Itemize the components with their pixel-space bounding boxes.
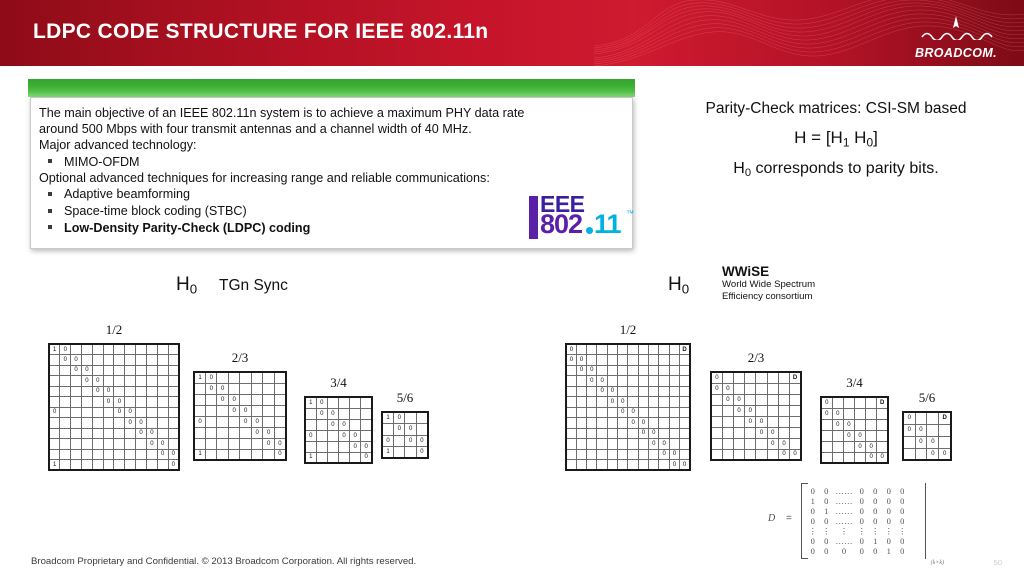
matrix-cell (274, 394, 286, 405)
matrix-cell (168, 439, 179, 450)
matrix-cell (350, 408, 361, 419)
matrix-cell (832, 430, 843, 441)
matrix-row: 00 (821, 441, 888, 452)
matrix-row: 10 (49, 344, 179, 355)
matrix-cell (778, 394, 789, 405)
matrix-cell: 0 (382, 435, 394, 447)
matrix-cell (659, 460, 669, 471)
matrix-cell (60, 460, 71, 471)
matrix-cell (628, 344, 638, 355)
matrix-cell (60, 386, 71, 397)
d-matrix-cell: …… (833, 536, 855, 546)
matrix-cell (638, 397, 648, 408)
matrix-cell (382, 424, 394, 436)
matrix-cell (597, 460, 607, 471)
matrix-cell (157, 365, 168, 376)
matrix-cell (832, 397, 843, 408)
matrix-cell: 0 (618, 407, 628, 418)
d-matrix-row: 00……0100 (806, 536, 909, 546)
matrix-cell: 0 (587, 365, 597, 376)
matrix-cell (756, 405, 767, 416)
matrix-cell (659, 397, 669, 408)
ieee-logo-tm: ™ (626, 210, 634, 218)
matrix-cell (618, 365, 628, 376)
matrix-cell: 0 (350, 441, 361, 452)
left-h0-letter: H (176, 274, 190, 295)
matrix-cell (711, 427, 722, 438)
d-matrix-grid: 00……000010……000001……000000……0000⋮⋮⋮⋮⋮⋮⋮0… (806, 486, 909, 556)
page-number: 50 (994, 558, 1002, 567)
matrix-cell (71, 386, 82, 397)
matrix-cell (217, 405, 228, 416)
matrix-cell: 0 (194, 416, 206, 427)
matrix-cell: 0 (638, 418, 648, 429)
matrix-cell (206, 394, 217, 405)
matrix-row: 00 (49, 355, 179, 366)
matrix-cell (638, 449, 648, 460)
matrix-row: 00 (49, 376, 179, 387)
matrix-cell (274, 372, 286, 383)
matrix-cell (778, 416, 789, 427)
matrix-cell (756, 438, 767, 449)
matrix-cell (866, 408, 877, 419)
matrix-cell (405, 412, 416, 424)
matrix-cell (778, 427, 789, 438)
matrix-cell (168, 386, 179, 397)
matrix-cell (49, 397, 60, 408)
matrix-cell: 1 (49, 344, 60, 355)
d-matrix-cell: 0 (882, 536, 896, 546)
matrix-cell (136, 397, 147, 408)
matrix-cell (92, 439, 103, 450)
matrix-cell (733, 427, 744, 438)
matrix-cell (82, 407, 93, 418)
matrix-row: 0D (821, 397, 888, 408)
matrix-cell (618, 418, 628, 429)
matrix-cell (638, 439, 648, 450)
matrix-row: 00 (49, 439, 179, 450)
d-matrix-row: 10……0000 (806, 496, 909, 506)
matrix-cell (338, 408, 349, 419)
matrix-cell: 0 (927, 436, 939, 448)
matrix-cell: 0 (566, 355, 576, 366)
matrix-cell (576, 344, 586, 355)
matrix-cell: 0 (327, 419, 338, 430)
d-matrix-cell: ⋮ (806, 526, 820, 536)
matrix-cell (680, 407, 690, 418)
matrix-cell (597, 344, 607, 355)
matrix-cell: 0 (778, 449, 789, 460)
d-matrix-cell: 0 (869, 516, 883, 526)
matrix-cell (361, 419, 372, 430)
matrix-cell: 0 (854, 441, 865, 452)
broadcom-wordmark: BROADCOM. (910, 46, 1002, 60)
matrix-cell (240, 372, 251, 383)
matrix-cell (628, 386, 638, 397)
matrix-cell (877, 419, 888, 430)
matrix-cell (649, 344, 659, 355)
overview-line-optional: Optional advanced techniques for increas… (39, 170, 622, 186)
matrix-row: 00 (305, 441, 372, 452)
matrix-cell: D (939, 412, 951, 424)
matrix-cell (92, 397, 103, 408)
matrix-cell (566, 428, 576, 439)
matrix-cell: D (790, 372, 801, 383)
matrix-cell (157, 397, 168, 408)
matrix-row: 00 (305, 419, 372, 430)
matrix-row: 000 (49, 407, 179, 418)
matrix-cell (767, 416, 778, 427)
d-matrix-cell: 0 (896, 486, 910, 496)
left-h0-sub: 0 (190, 282, 197, 297)
matrix-cell (607, 365, 617, 376)
matrix-cell (82, 439, 93, 450)
matrix-cell (659, 355, 669, 366)
matrix-cell (843, 452, 854, 463)
matrix-cell (251, 449, 262, 460)
matrix-cell (607, 449, 617, 460)
matrix-cell (607, 355, 617, 366)
matrix-cell: 0 (576, 365, 586, 376)
matrix-row: 00 (49, 418, 179, 429)
matrix-grid: 0D0000000000 (820, 396, 889, 464)
matrix-cell (125, 397, 136, 408)
matrix-cell (866, 419, 877, 430)
matrix-cell (274, 427, 286, 438)
matrix-cell (587, 439, 597, 450)
matrix-cell: 0 (745, 416, 756, 427)
matrix-cell (71, 344, 82, 355)
matrix-cell: 0 (659, 449, 669, 460)
matrix-cell (680, 386, 690, 397)
matrix-cell: 0 (206, 383, 217, 394)
matrix-cell (136, 407, 147, 418)
matrix-cell (722, 427, 733, 438)
d-matrix-cell: 1 (820, 506, 834, 516)
matrix-cell (649, 386, 659, 397)
ieee-logo-bar-icon (529, 196, 538, 239)
matrix-cell (71, 376, 82, 387)
matrix-cell (125, 386, 136, 397)
matrix-cell (146, 386, 157, 397)
matrix-cell (756, 372, 767, 383)
matrix-cell: 0 (767, 427, 778, 438)
matrix-cell (338, 397, 349, 408)
d-matrix-cell: 0 (855, 496, 869, 506)
d-matrix-cell: ⋮ (833, 526, 855, 536)
matrix-cell (305, 441, 316, 452)
matrix-cell: 0 (722, 394, 733, 405)
matrix-cell (228, 449, 239, 460)
matrix-cell (71, 428, 82, 439)
matrix-cell (136, 376, 147, 387)
parity-check-heading: Parity-Check matrices: CSI-SM based (648, 100, 1024, 118)
matrix-cell: 0 (416, 435, 428, 447)
matrix-cell: 0 (274, 438, 286, 449)
matrix-cell (778, 405, 789, 416)
d-matrix-cell: 1 (882, 546, 896, 556)
matrix-cell: 0 (618, 397, 628, 408)
d-matrix-cell: 0 (855, 486, 869, 496)
overview-line-3: Major advanced technology: (39, 137, 622, 153)
matrix-cell (168, 418, 179, 429)
d-matrix-cell: 0 (896, 516, 910, 526)
matrix-cell: 1 (305, 452, 316, 463)
matrix-cell (136, 365, 147, 376)
matrix-cell (274, 383, 286, 394)
d-matrix-cell: 0 (855, 506, 869, 516)
matrix-cell (638, 376, 648, 387)
matrix-grid: 0D0000000000000000000000 (565, 343, 691, 471)
matrix-cell: 0 (566, 344, 576, 355)
matrix-cell (350, 419, 361, 430)
matrix-cell (71, 407, 82, 418)
matrix-cell: 1 (194, 449, 206, 460)
matrix-row: 00 (49, 365, 179, 376)
matrix-cell (587, 460, 597, 471)
matrix-cell (843, 408, 854, 419)
matrix-cell (82, 355, 93, 366)
matrix-cell: 0 (263, 438, 274, 449)
overview-text-box: The main objective of an IEEE 802.11n sy… (30, 97, 633, 249)
matrix-cell (103, 376, 114, 387)
matrix-cell: 0 (927, 448, 939, 460)
matrix-cell (566, 460, 576, 471)
matrix-cell: 0 (394, 412, 405, 424)
matrix-cell (767, 405, 778, 416)
matrix-cell (680, 376, 690, 387)
matrix-cell (240, 438, 251, 449)
matrix-cell (327, 430, 338, 441)
matrix-cell (263, 416, 274, 427)
overview-line-2: around 500 Mbps with four transmit anten… (39, 121, 622, 137)
matrix-cell (587, 428, 597, 439)
matrix-cell: 0 (915, 436, 927, 448)
matrix-cell (136, 439, 147, 450)
matrix-cell (566, 376, 576, 387)
wwise-subtitle-1: World Wide Spectrum (722, 279, 815, 291)
matrix-cell (82, 386, 93, 397)
matrix-cell (711, 405, 722, 416)
matrix-cell (338, 441, 349, 452)
matrix-cell (157, 386, 168, 397)
matrix-cell (263, 405, 274, 416)
matrix-cell (649, 407, 659, 418)
matrix-cell (240, 427, 251, 438)
d-matrix-cell: ⋮ (855, 526, 869, 536)
bullet-square-icon (48, 225, 52, 229)
matrix-cell (659, 344, 669, 355)
matrix-cell (92, 365, 103, 376)
matrix-cell (927, 412, 939, 424)
matrix-cell (157, 407, 168, 418)
matrix-cell: 0 (939, 448, 951, 460)
matrix-cell: 0 (394, 424, 405, 436)
matrix-cell (206, 405, 217, 416)
matrix-row: 00 (194, 438, 286, 449)
matrix-cell (576, 449, 586, 460)
matrix-cell (618, 376, 628, 387)
matrix-cell: 0 (327, 408, 338, 419)
matrix-cell (618, 428, 628, 439)
matrix-cell (628, 428, 638, 439)
matrix-cell (597, 439, 607, 450)
matrix-cell (659, 428, 669, 439)
matrix-cell (136, 449, 147, 460)
matrix-tgn-3-4: 3/41000000000010 (304, 375, 373, 464)
matrix-cell (217, 427, 228, 438)
d-matrix-cell: ⋮ (882, 526, 896, 536)
matrix-cell (843, 397, 854, 408)
d-matrix-cell: 0 (882, 486, 896, 496)
d-matrix-cell: 0 (869, 496, 883, 506)
matrix-cell (659, 407, 669, 418)
matrix-grid: 10000000000000010 (193, 371, 287, 461)
matrix-cell (756, 394, 767, 405)
matrix-row: 00 (382, 424, 428, 436)
matrix-cell (680, 418, 690, 429)
matrix-cell: 0 (790, 449, 801, 460)
d-matrix-cell: 1 (806, 496, 820, 506)
matrix-cell (821, 452, 832, 463)
matrix-cell (607, 439, 617, 450)
matrix-cell: 0 (659, 439, 669, 450)
matrix-cell (263, 383, 274, 394)
matrix-cell (649, 355, 659, 366)
matrix-cell (92, 344, 103, 355)
matrix-cell: 0 (756, 416, 767, 427)
matrix-cell (576, 428, 586, 439)
matrix-cell: 0 (628, 418, 638, 429)
d-matrix-symbol: D (768, 513, 775, 524)
matrix-cell (274, 405, 286, 416)
matrix-cell (217, 449, 228, 460)
matrix-rate-label: 3/4 (820, 375, 889, 391)
bullet-mimo-ofdm-label: MIMO-OFDM (64, 155, 140, 169)
matrix-cell (669, 365, 679, 376)
matrix-cell (60, 407, 71, 418)
matrix-cell: 0 (711, 372, 722, 383)
matrix-wwise-2-3: 2/30D00000000000000 (710, 350, 802, 461)
bullet-adaptive-beamforming-label: Adaptive beamforming (64, 187, 190, 201)
matrix-cell (597, 449, 607, 460)
matrix-cell (228, 383, 239, 394)
matrix-cell (659, 386, 669, 397)
matrix-tgn-1-2: 1/21000000000000000000000010 (48, 322, 180, 471)
d-matrix-cell: 0 (855, 546, 869, 556)
matrix-cell (361, 397, 372, 408)
matrix-cell (168, 407, 179, 418)
d-matrix-cell: 0 (806, 486, 820, 496)
matrix-cell: 0 (92, 376, 103, 387)
matrix-cell (722, 405, 733, 416)
matrix-cell (649, 418, 659, 429)
matrix-cell (832, 452, 843, 463)
matrix-cell: 0 (711, 383, 722, 394)
matrix-row: 00 (711, 416, 801, 427)
matrix-cell (49, 355, 60, 366)
matrix-cell (60, 365, 71, 376)
matrix-cell (125, 355, 136, 366)
matrix-cell (587, 355, 597, 366)
matrix-cell (618, 344, 628, 355)
matrix-row: 000 (382, 435, 428, 447)
matrix-cell (587, 386, 597, 397)
matrix-cell: 0 (103, 386, 114, 397)
matrix-cell: 0 (778, 438, 789, 449)
matrix-cell (722, 438, 733, 449)
matrix-cell (125, 439, 136, 450)
matrix-cell: 0 (361, 452, 372, 463)
matrix-cell: 0 (114, 407, 125, 418)
d-matrix-row: 00……0000 (806, 516, 909, 526)
matrix-row: 00 (49, 449, 179, 460)
matrix-cell (350, 397, 361, 408)
matrix-cell: 0 (903, 424, 915, 436)
d-matrix-cell: 0 (869, 546, 883, 556)
bullet-mimo-ofdm: MIMO-OFDM (39, 154, 622, 171)
matrix-cell (157, 376, 168, 387)
matrix-rate-label: 1/2 (48, 322, 180, 338)
bullet-square-icon (48, 209, 52, 213)
parity-check-description: Parity-Check matrices: CSI-SM based H = … (648, 100, 1024, 179)
matrix-cell (927, 424, 939, 436)
matrix-cell (251, 383, 262, 394)
matrix-row: 00 (49, 428, 179, 439)
matrix-cell (628, 355, 638, 366)
d-matrix-cell: 0 (896, 546, 910, 556)
matrix-cell (136, 344, 147, 355)
d-matrix-cell: 0 (806, 546, 820, 556)
matrix-cell: 0 (821, 408, 832, 419)
matrix-cell (251, 372, 262, 383)
matrix-row: 000 (305, 430, 372, 441)
matrix-cell (607, 428, 617, 439)
matrix-cell (103, 365, 114, 376)
matrix-cell (263, 449, 274, 460)
matrix-cell (680, 449, 690, 460)
matrix-cell (745, 449, 756, 460)
matrix-cell: 0 (669, 449, 679, 460)
matrix-row: 00 (711, 383, 801, 394)
matrix-cell: 0 (251, 427, 262, 438)
matrix-rate-label: 2/3 (193, 350, 287, 366)
matrix-cell: 0 (228, 405, 239, 416)
matrix-cell (649, 449, 659, 460)
matrix-cell: 0 (136, 428, 147, 439)
matrix-cell: 0 (416, 447, 428, 459)
matrix-cell: 0 (669, 460, 679, 471)
matrix-cell (146, 344, 157, 355)
matrix-cell (767, 394, 778, 405)
matrix-cell (60, 376, 71, 387)
matrix-cell (206, 416, 217, 427)
matrix-cell (305, 408, 316, 419)
broadcom-logo: BROADCOM. (910, 14, 1002, 54)
matrix-row: 00 (711, 394, 801, 405)
matrix-cell (821, 419, 832, 430)
matrix-row: 00 (566, 460, 690, 471)
matrix-cell (597, 397, 607, 408)
matrix-cell (680, 397, 690, 408)
matrix-cell (240, 383, 251, 394)
matrix-cell (843, 441, 854, 452)
matrix-cell (194, 383, 206, 394)
d-matrix-row: 00……0000 (806, 486, 909, 496)
matrix-cell (125, 460, 136, 471)
matrix-cell (114, 355, 125, 366)
matrix-cell (767, 449, 778, 460)
